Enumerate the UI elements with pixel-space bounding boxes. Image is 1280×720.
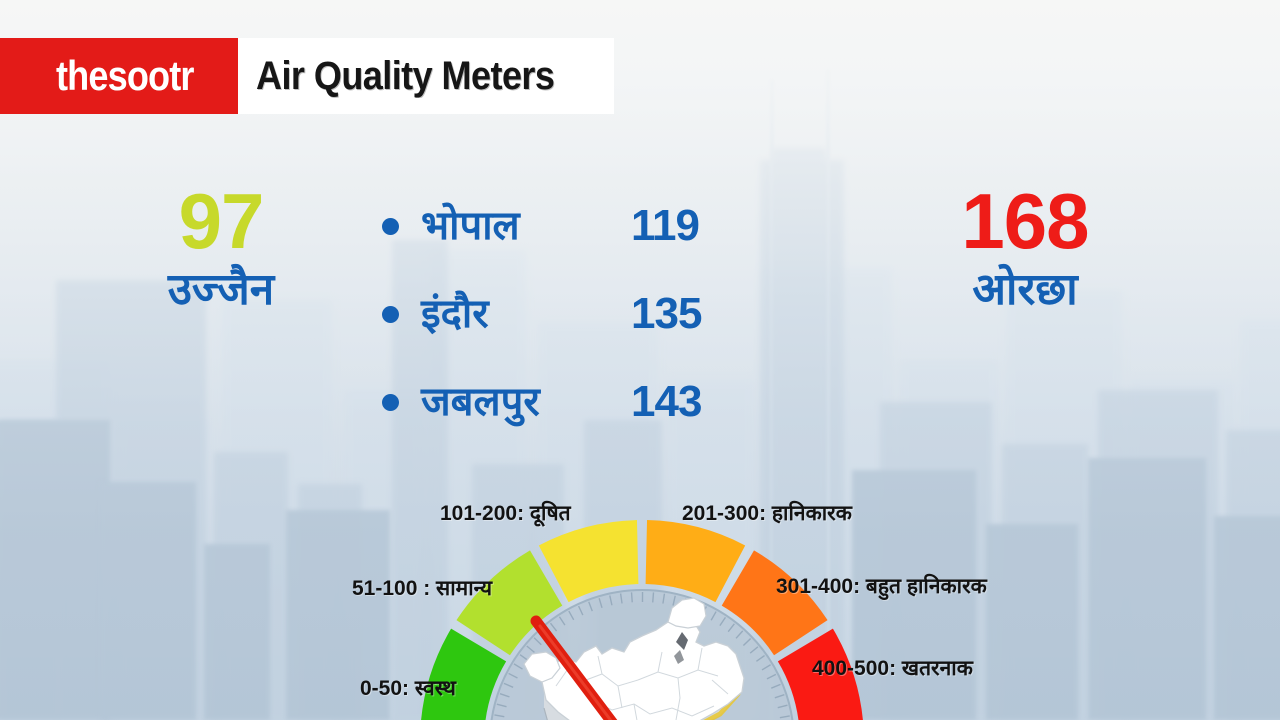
city-name: इंदौर bbox=[421, 294, 631, 334]
logo-badge[interactable]: thesootr bbox=[0, 38, 238, 114]
legend-label-400-500: 400-500: खतरनाक bbox=[812, 658, 973, 679]
list-item: जबलपुर 143 bbox=[382, 358, 762, 446]
stat-label: ओरछा bbox=[880, 266, 1170, 314]
legend-label-51-100: 51-100 : सामान्य bbox=[352, 578, 492, 599]
legend-label-201-300: 201-300: हानिकारक bbox=[682, 503, 852, 524]
city-name: जबलपुर bbox=[421, 382, 631, 422]
stat-value: 168 bbox=[880, 186, 1170, 258]
city-aqi-list: भोपाल 119 इंदौर 135 जबलपुर 143 bbox=[382, 182, 762, 446]
bullet-icon bbox=[382, 218, 399, 235]
city-aqi: 119 bbox=[631, 204, 699, 248]
city-aqi: 135 bbox=[631, 292, 701, 336]
legend-label-101-200: 101-200: दूषित bbox=[440, 503, 571, 524]
city-name: भोपाल bbox=[421, 206, 631, 246]
city-aqi: 143 bbox=[631, 380, 701, 424]
stat-value: 97 bbox=[96, 186, 346, 258]
logo-text: thesootr bbox=[56, 52, 194, 100]
stat-card-ujjain: 97 उज्जैन bbox=[96, 186, 346, 314]
legend-label-301-400: 301-400: बहुत हानिकारक bbox=[776, 576, 987, 597]
header-bar: thesootr Air Quality Meters bbox=[0, 38, 614, 114]
stat-card-orchha: 168 ओरछा bbox=[880, 186, 1170, 314]
list-item: इंदौर 135 bbox=[382, 270, 762, 358]
bullet-icon bbox=[382, 394, 399, 411]
page-title-panel: Air Quality Meters bbox=[238, 38, 614, 114]
bullet-icon bbox=[382, 306, 399, 323]
page-title: Air Quality Meters bbox=[256, 54, 554, 99]
stat-label: उज्जैन bbox=[96, 266, 346, 314]
legend-label-0-50: 0-50: स्वस्थ bbox=[360, 678, 456, 699]
list-item: भोपाल 119 bbox=[382, 182, 762, 270]
